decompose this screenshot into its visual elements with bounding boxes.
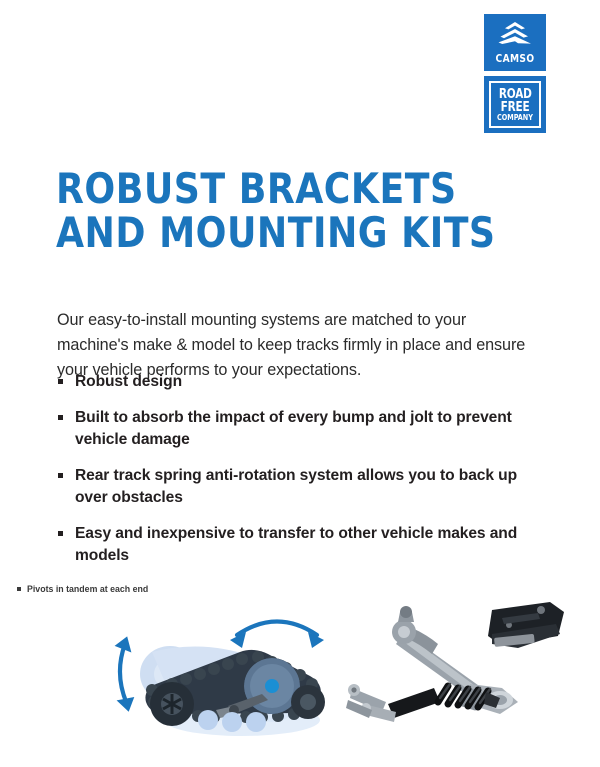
list-item-label: Rear track spring anti-rotation system a… (75, 467, 517, 506)
road-free-line-3: COMPANY (497, 114, 533, 122)
hardware-parts-illustration (342, 592, 574, 734)
bullet-square-icon (58, 415, 63, 420)
footnote: Pivots in tandem at each end (17, 583, 148, 595)
vertical-pivot-arrow (114, 634, 137, 714)
list-item: Built to absorb the impact of every bump… (57, 407, 537, 451)
feature-list: Robust design Built to absorb the impact… (57, 371, 537, 581)
track-system-graphic (112, 602, 348, 742)
camso-logo: CAMSO (484, 14, 546, 71)
road-free-company-logo: ROAD FREE COMPANY (484, 76, 546, 133)
bullet-square-icon (58, 531, 63, 536)
list-item: Robust design (57, 371, 537, 393)
bullet-square-icon (58, 473, 63, 478)
page-title: ROBUST BRACKETS AND MOUNTING KITS (56, 167, 496, 255)
list-item: Rear track spring anti-rotation system a… (57, 465, 537, 509)
bullet-square-icon (58, 379, 63, 384)
footnote-label: Pivots in tandem at each end (27, 584, 148, 594)
list-item: Easy and inexpensive to transfer to othe… (57, 523, 537, 567)
list-item-label: Easy and inexpensive to transfer to othe… (75, 525, 517, 564)
track-system-illustration (112, 602, 348, 742)
spring-shock-assembly (346, 684, 500, 722)
camso-chevron-mark (497, 21, 533, 45)
logo-stack: CAMSO ROAD FREE COMPANY (484, 14, 546, 133)
road-free-line-1: ROAD (499, 88, 532, 101)
horizontal-pivot-arrow (230, 622, 324, 649)
road-free-inner-frame: ROAD FREE COMPANY (489, 81, 541, 128)
idler-wheels (198, 710, 266, 732)
hardware-parts-graphic (342, 592, 574, 734)
list-item-label: Robust design (75, 373, 182, 390)
sprocket-hub (265, 679, 279, 693)
footnote-bullet-square-icon (17, 587, 21, 591)
road-free-line-2: FREE (501, 101, 530, 114)
camso-wordmark: CAMSO (486, 52, 543, 65)
bracket-housing (488, 602, 564, 648)
list-item-label: Built to absorb the impact of every bump… (75, 409, 512, 448)
